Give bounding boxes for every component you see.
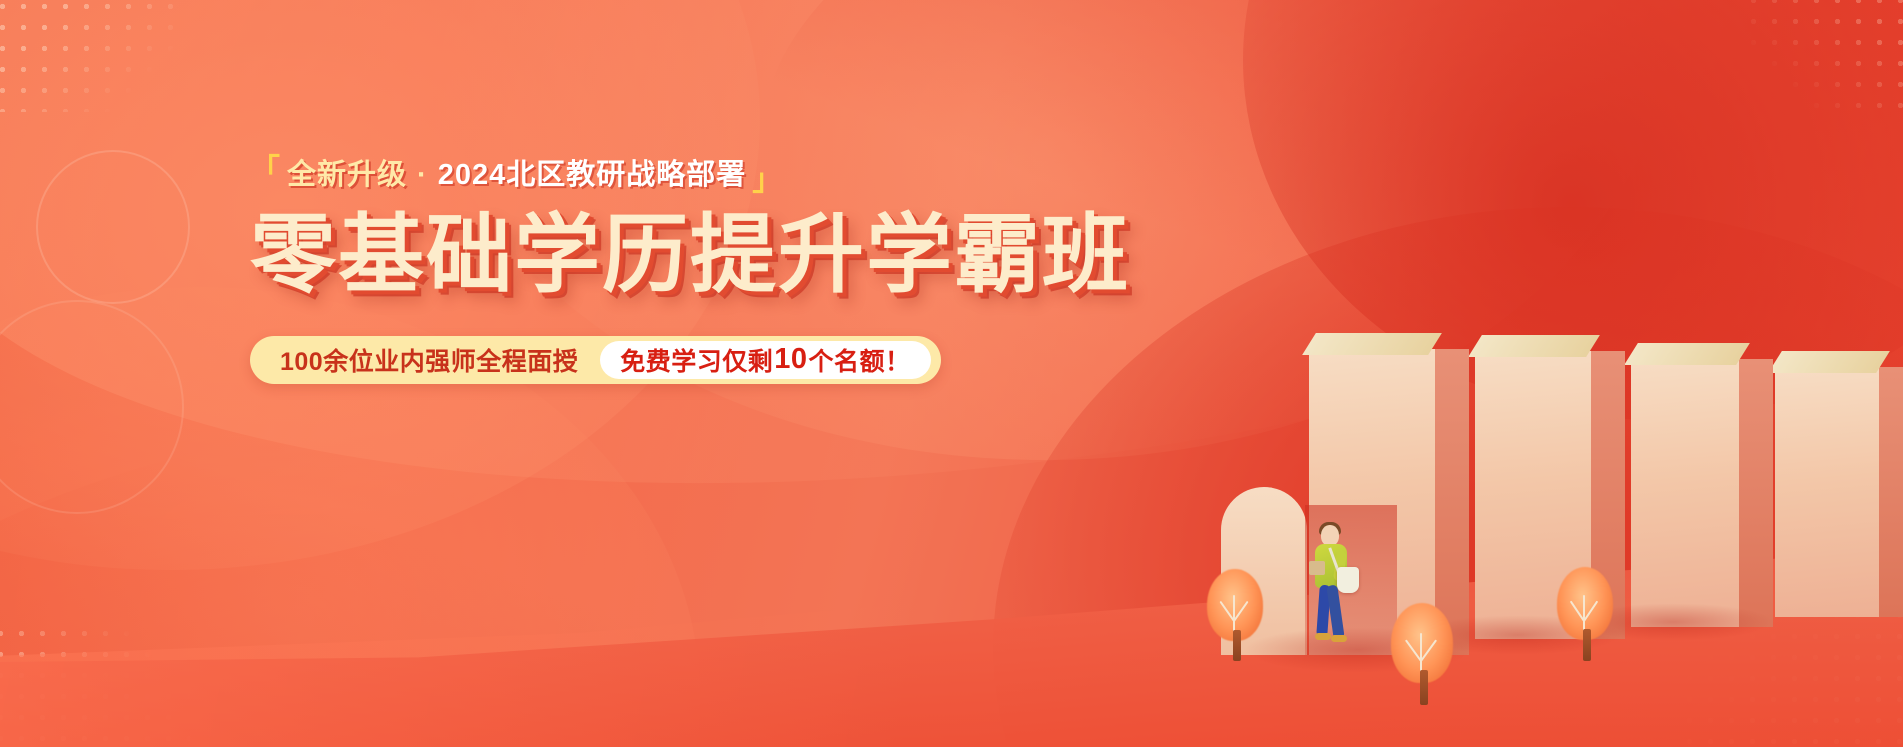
- banner-offer-pill[interactable]: 100余位业内强师全程面授 免费学习仅剩 10 个名额！: [250, 336, 941, 384]
- book-face: [1631, 359, 1743, 627]
- book-face: [1775, 367, 1883, 617]
- banner-title: 零基础学历提升学霸班: [250, 212, 1030, 300]
- person-shoulder-bag: [1337, 567, 1359, 593]
- illustration-tree-left: [1207, 569, 1263, 661]
- offer-chip-prefix: 免费学习仅剩: [620, 342, 773, 378]
- book-side: [1739, 359, 1773, 627]
- close-bracket-icon: 」: [752, 166, 783, 196]
- illustration-books-and-student: [1023, 187, 1903, 747]
- person-shoe-left: [1315, 633, 1331, 640]
- tree-trunk: [1583, 629, 1591, 661]
- illustration-student-figure: [1307, 525, 1363, 647]
- book-top-edge: [1302, 333, 1442, 355]
- person-leg-right: [1326, 584, 1344, 639]
- person-shoe-right: [1331, 635, 1347, 642]
- offer-chip-number: 10: [773, 343, 808, 376]
- offer-pill-left-text: 100余位业内强师全程面授: [280, 342, 600, 378]
- decorative-ring-1: [36, 150, 190, 304]
- illustration-tree-mid: [1391, 603, 1453, 705]
- dot-pattern-top-left: [0, 0, 182, 112]
- open-bracket-icon: 「: [250, 156, 281, 186]
- book-top-edge: [1768, 351, 1890, 373]
- banner-copy: 「 全新升级 · 2024北区教研战略部署 」 零基础学历提升学霸班 100余位…: [250, 160, 1030, 384]
- book-side: [1879, 367, 1903, 617]
- illustration-book-3: [1631, 359, 1743, 627]
- dot-pattern-top-right: [1743, 0, 1903, 110]
- banner-eyebrow: 「 全新升级 · 2024北区教研战略部署 」: [250, 160, 1030, 190]
- eyebrow-separator-icon: ·: [413, 161, 432, 190]
- eyebrow-white-text: 2024北区教研战略部署: [438, 161, 747, 190]
- book-top-edge: [1624, 343, 1750, 365]
- tree-trunk: [1420, 670, 1428, 705]
- person-held-book: [1309, 561, 1325, 575]
- person-head: [1321, 525, 1339, 546]
- offer-pill-chip: 免费学习仅剩 10 个名额！: [600, 341, 930, 379]
- illustration-book-4: [1775, 367, 1883, 617]
- offer-chip-suffix: 个名额！: [809, 342, 911, 378]
- book-top-edge: [1468, 335, 1600, 357]
- illustration-tree-right: [1557, 567, 1613, 661]
- promo-banner: 「 全新升级 · 2024北区教研战略部署 」 零基础学历提升学霸班 100余位…: [0, 0, 1903, 747]
- tree-trunk: [1233, 630, 1241, 661]
- eyebrow-gold-text: 全新升级: [287, 161, 407, 190]
